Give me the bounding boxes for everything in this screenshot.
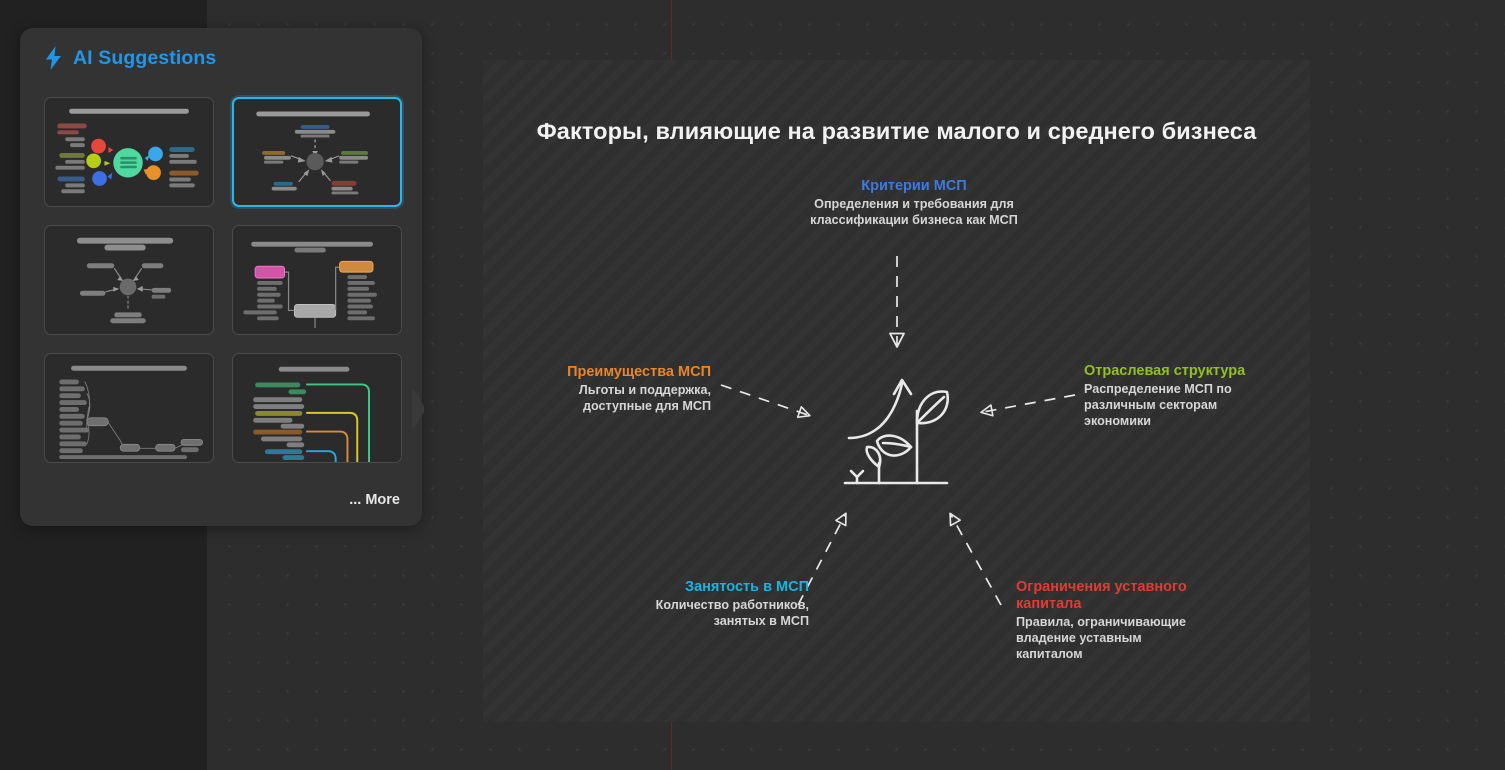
node-benefits-title: Преимущества МСП bbox=[555, 364, 711, 381]
node-employment-desc: Количество работников, занятых в МСП bbox=[623, 598, 809, 629]
app-root: Факторы, влияющие на развитие малого и с… bbox=[0, 0, 1505, 770]
node-benefits[interactable]: Преимущества МСП Льготы и поддержка, дос… bbox=[555, 364, 711, 415]
thumbnail-mindmap-colored[interactable] bbox=[44, 97, 214, 207]
lightning-bolt-icon bbox=[44, 46, 63, 70]
thumbnail-radial-hub[interactable] bbox=[232, 97, 402, 207]
node-criteria[interactable]: Критерии МСП Определения и требования дл… bbox=[808, 178, 1020, 229]
node-employment-title: Занятость в МСП bbox=[623, 579, 809, 596]
more-link[interactable]: ... More bbox=[349, 492, 400, 508]
ai-suggestions-panel: AI Suggestions bbox=[20, 28, 422, 526]
edge-structure bbox=[983, 395, 1075, 412]
node-structure-desc: Распределение МСП по различным секторам … bbox=[1084, 382, 1259, 429]
slide-canvas[interactable]: Факторы, влияющие на развитие малого и с… bbox=[483, 60, 1310, 722]
thumbnail-radial-gray[interactable] bbox=[44, 225, 214, 335]
thumbnail-colored-curves[interactable] bbox=[232, 353, 402, 463]
ai-suggestions-header: AI Suggestions bbox=[44, 46, 216, 70]
node-criteria-title: Критерии МСП bbox=[808, 178, 1020, 195]
node-employment[interactable]: Занятость в МСП Количество работников, з… bbox=[623, 579, 809, 630]
node-capital[interactable]: Ограничения уставного капитала Правила, … bbox=[1016, 579, 1196, 662]
thumbnail-tree-branches[interactable] bbox=[232, 225, 402, 335]
edge-benefits bbox=[721, 385, 808, 415]
node-structure[interactable]: Отраслевая структура Распределение МСП п… bbox=[1084, 363, 1259, 429]
node-criteria-desc: Определения и требования для классификац… bbox=[808, 197, 1020, 228]
thumbnail-grid bbox=[44, 97, 402, 463]
edge-capital bbox=[951, 515, 1001, 605]
ai-suggestions-title: AI Suggestions bbox=[73, 47, 216, 70]
growth-plant-icon bbox=[843, 365, 953, 490]
node-capital-desc: Правила, ограничивающие владение уставны… bbox=[1016, 615, 1196, 662]
node-capital-title: Ограничения уставного капитала bbox=[1016, 579, 1196, 613]
node-structure-title: Отраслевая структура bbox=[1084, 363, 1259, 380]
thumbnail-list-chain[interactable] bbox=[44, 353, 214, 463]
node-benefits-desc: Льготы и поддержка, доступные для МСП bbox=[555, 383, 711, 414]
panel-collapse-handle[interactable] bbox=[412, 390, 428, 428]
slide-title: Факторы, влияющие на развитие малого и с… bbox=[483, 118, 1310, 145]
